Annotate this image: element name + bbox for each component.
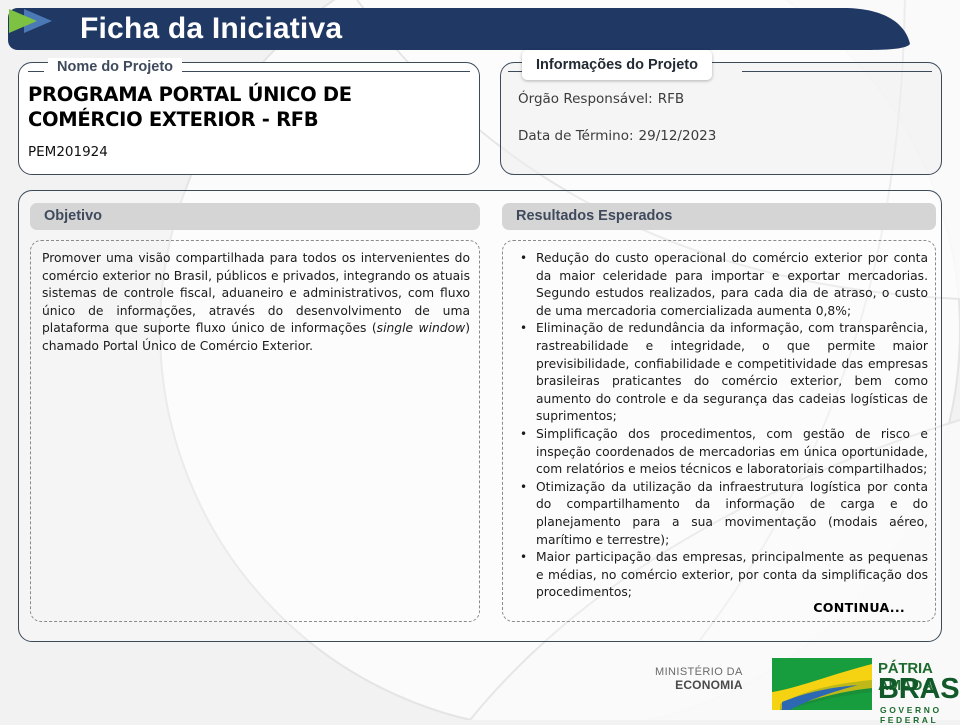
page-title: Ficha da Iniciativa: [80, 12, 342, 46]
continuation-label: CONTINUA...: [813, 600, 905, 615]
objetivo-text: Promover uma visão compartilhada para to…: [42, 250, 470, 356]
project-code-value: PEM201924: [28, 144, 108, 161]
info-value: RFB: [653, 91, 684, 107]
project-info-legend: Informações do Projeto: [522, 50, 712, 80]
brazil-flag-icon: [772, 658, 872, 710]
brand-line-3: GOVERNO FEDERAL: [880, 705, 942, 725]
list-item: Eliminação de redundância da informação,…: [514, 320, 928, 426]
project-name-value: PROGRAMA PORTAL ÚNICO DE COMÉRCIO EXTERI…: [28, 82, 468, 132]
project-name-legend: Nome do Projeto: [48, 58, 182, 77]
legend-rule-left: [28, 71, 44, 72]
ministry-logo-text: MINISTÉRIO DA ECONOMIA: [655, 666, 743, 692]
info-value: 29/12/2023: [634, 128, 717, 144]
info-row: Data de Término:29/12/2023: [518, 127, 716, 145]
header-banner: Ficha da Iniciativa: [8, 8, 913, 50]
section-header-objetivo: Objetivo: [30, 203, 480, 230]
info-legend-rule-left: [508, 71, 522, 72]
list-item: Otimização da utilização da infraestrutu…: [514, 479, 928, 549]
section-header-resultados: Resultados Esperados: [502, 203, 936, 230]
list-item: Simplificação dos procedimentos, com ges…: [514, 426, 928, 479]
footer: MINISTÉRIO DA ECONOMIA PÁTRIA AMADA BRAS…: [0, 646, 960, 720]
info-row: Órgão Responsável:RFB: [518, 90, 684, 108]
list-item: Maior participação das empresas, princip…: [514, 549, 928, 602]
ministry-line-2: ECONOMIA: [655, 679, 743, 692]
play-triangle-icon: [8, 8, 54, 34]
resultados-list: Redução do custo operacional do comércio…: [514, 250, 928, 602]
info-label: Órgão Responsável:: [518, 91, 653, 107]
legend-rule-right: [172, 71, 470, 72]
info-label: Data de Término:: [518, 128, 634, 144]
list-item: Redução do custo operacional do comércio…: [514, 250, 928, 320]
brand-line-2: BRASIL: [878, 674, 960, 704]
info-legend-rule-right: [742, 71, 932, 72]
